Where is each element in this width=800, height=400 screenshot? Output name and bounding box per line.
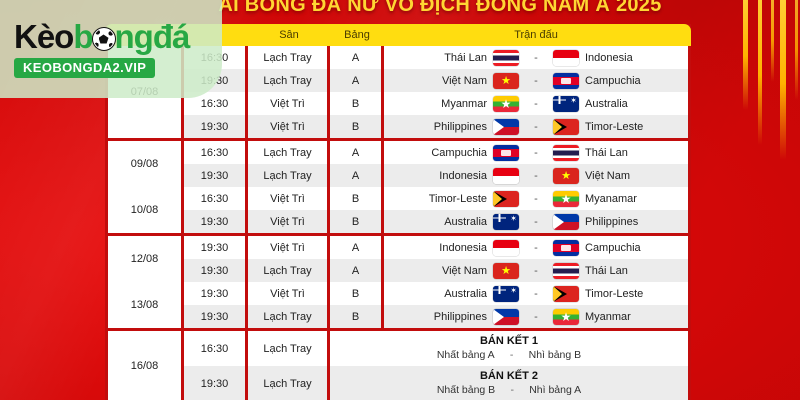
semifinal-title: BÁN KẾT 1 — [330, 335, 688, 349]
date-label: 09/08 — [131, 158, 159, 170]
match-cell: Australia-Timor-Leste — [384, 282, 688, 305]
matchup: Việt Nam-Thái Lan — [384, 263, 688, 279]
group-cell: A — [330, 259, 384, 282]
venue-cell: Lạch Tray — [248, 164, 330, 187]
table-body: 07/0816:30Lạch TrayAThái Lan-Indonesia19… — [108, 46, 688, 400]
group-cell: A — [330, 164, 384, 187]
venue-cell: Lạch Tray — [248, 331, 330, 366]
home-team-flag-icon — [493, 309, 519, 325]
logo-text-keo: Kèo — [14, 18, 73, 55]
group-rows: 16:30Lạch TrayACampuchia-Thái Lan19:30Lạ… — [184, 141, 688, 233]
header-group: Bảng — [330, 29, 384, 41]
logo-text-ngda: ngđá — [115, 18, 190, 55]
date-cell: 09/0810/08 — [108, 141, 184, 233]
time-cell: 19:30 — [184, 236, 248, 259]
home-team-flag-icon — [493, 145, 519, 161]
matchup: Myanmar-Australia — [384, 96, 688, 112]
semifinal-left: Nhất bảng B — [437, 384, 495, 396]
versus-dash: - — [525, 121, 547, 133]
away-team-flag-icon — [553, 286, 579, 302]
versus-dash: - — [525, 75, 547, 87]
away-team-name: Indonesia — [585, 52, 673, 64]
group-rows: 16:30Lạch TrayAThái Lan-Indonesia19:30Lạ… — [184, 46, 688, 138]
versus-dash: - — [525, 98, 547, 110]
match-cell: Timor-Leste-Myanamar — [384, 187, 688, 210]
home-team-name: Timor-Leste — [399, 193, 487, 205]
home-team-flag-icon — [493, 191, 519, 207]
group-cell: B — [330, 92, 384, 115]
time-cell: 16:30 — [184, 141, 248, 164]
semifinal-left: Nhất bảng A — [437, 349, 495, 361]
away-team-name: Việt Nam — [585, 170, 673, 182]
date-label: 16/08 — [131, 360, 159, 372]
away-team-name: Philippines — [585, 216, 673, 228]
home-team-name: Australia — [399, 288, 487, 300]
schedule-graphic: ẢI BÓNG ĐÁ NỮ VÔ ĐỊCH ĐÔNG NAM Á 2025 Sâ… — [0, 0, 800, 400]
home-team-name: Myanmar — [399, 98, 487, 110]
soccer-ball-icon — [92, 27, 116, 51]
time-cell: 19:30 — [184, 259, 248, 282]
versus-dash: - — [495, 384, 529, 397]
match-cell: Việt Nam-Thái Lan — [384, 259, 688, 282]
matchup: Indonesia-Campuchia — [384, 240, 688, 256]
venue-cell: Lạch Tray — [248, 366, 330, 400]
away-team-flag-icon — [553, 50, 579, 66]
versus-dash: - — [525, 265, 547, 277]
logo-domain-badge: KEOBONGDA2.VIP — [14, 58, 155, 78]
logo-wordmark: Kèobngđá — [14, 20, 189, 53]
time-cell: 16:30 — [184, 187, 248, 210]
group-cell: B — [330, 305, 384, 328]
versus-dash: - — [525, 242, 547, 254]
home-team-flag-icon — [493, 50, 519, 66]
venue-cell: Lạch Tray — [248, 305, 330, 328]
away-team-name: Timor-Leste — [585, 121, 673, 133]
table-row[interactable]: 19:30Việt TrìAIndonesia-Campuchia — [184, 236, 688, 259]
table-row[interactable]: 19:30Việt TrìBAustralia-Timor-Leste — [184, 282, 688, 305]
venue-cell: Việt Trì — [248, 282, 330, 305]
versus-dash: - — [525, 52, 547, 64]
time-cell: 19:30 — [184, 366, 248, 400]
versus-dash: - — [495, 349, 529, 362]
away-team-name: Campuchia — [585, 75, 673, 87]
home-team-name: Philippines — [399, 311, 487, 323]
away-team-flag-icon — [553, 191, 579, 207]
away-team-flag-icon — [553, 168, 579, 184]
matchup: Timor-Leste-Myanamar — [384, 191, 688, 207]
home-team-flag-icon — [493, 168, 519, 184]
semifinal-block: BÁN KẾT 1Nhất bảng A-Nhì bảng B — [330, 335, 688, 362]
group-cell: B — [330, 282, 384, 305]
matchup: Australia-Timor-Leste — [384, 286, 688, 302]
group-cell: A — [330, 236, 384, 259]
matchup: Campuchia-Thái Lan — [384, 145, 688, 161]
away-team-flag-icon — [553, 214, 579, 230]
home-team-flag-icon — [493, 214, 519, 230]
venue-cell: Việt Trì — [248, 115, 330, 138]
match-cell: Philippines-Myanmar — [384, 305, 688, 328]
home-team-name: Campuchia — [399, 147, 487, 159]
time-cell: 19:30 — [184, 282, 248, 305]
home-team-name: Indonesia — [399, 242, 487, 254]
logo-panel: Kèobngđá KEOBONGDA2.VIP — [0, 0, 222, 98]
away-team-flag-icon — [553, 73, 579, 89]
away-team-name: Timor-Leste — [585, 288, 673, 300]
semifinal-matchup: Nhất bảng A-Nhì bảng B — [330, 349, 688, 362]
home-team-name: Thái Lan — [399, 52, 487, 64]
venue-cell: Việt Trì — [248, 187, 330, 210]
match-cell: Philippines-Timor-Leste — [384, 115, 688, 138]
home-team-flag-icon — [493, 263, 519, 279]
home-team-flag-icon — [493, 286, 519, 302]
gold-ray-decoration — [680, 0, 800, 170]
table-row[interactable]: 16:30Lạch TrayAThái Lan-Indonesia — [184, 46, 688, 69]
group-rows: 19:30Việt TrìAIndonesia-Campuchia19:30Lạ… — [184, 236, 688, 328]
home-team-name: Australia — [399, 216, 487, 228]
matchup: Thái Lan-Indonesia — [384, 50, 688, 66]
time-cell: 19:30 — [184, 210, 248, 233]
table-row[interactable]: 16:30Lạch TrayBÁN KẾT 1Nhất bảng A-Nhì b… — [184, 331, 688, 366]
matchup: Philippines-Timor-Leste — [384, 119, 688, 135]
semifinal-right: Nhì bảng A — [529, 384, 581, 396]
away-team-flag-icon — [553, 119, 579, 135]
table-row[interactable]: 19:30Lạch TrayAIndonesia-Việt Nam — [184, 164, 688, 187]
venue-cell: Lạch Tray — [248, 46, 330, 69]
away-team-name: Thái Lan — [585, 265, 673, 277]
matchup: Indonesia-Việt Nam — [384, 168, 688, 184]
time-cell: 16:30 — [184, 331, 248, 366]
home-team-name: Việt Nam — [399, 265, 487, 277]
schedule-date-group: 09/0810/0816:30Lạch TrayACampuchia-Thái … — [108, 141, 688, 236]
versus-dash: - — [525, 147, 547, 159]
away-team-flag-icon — [553, 145, 579, 161]
semifinal-cell: BÁN KẾT 2Nhất bảng B-Nhì bảng A — [330, 366, 688, 400]
away-team-flag-icon — [553, 240, 579, 256]
date-cell: 12/0813/08 — [108, 236, 184, 328]
group-cell: B — [330, 210, 384, 233]
group-cell: B — [330, 187, 384, 210]
match-cell: Việt Nam-Campuchia — [384, 69, 688, 92]
away-team-name: Australia — [585, 98, 673, 110]
table-row[interactable]: 19:30Lạch TrayAViệt Nam-Thái Lan — [184, 259, 688, 282]
versus-dash: - — [525, 311, 547, 323]
away-team-name: Thái Lan — [585, 147, 673, 159]
venue-cell: Lạch Tray — [248, 259, 330, 282]
date-cell: 16/08 — [108, 331, 184, 400]
table-row[interactable]: 19:30Lạch TrayBPhilippines-Myanmar — [184, 305, 688, 328]
versus-dash: - — [525, 216, 547, 228]
match-cell: Myanmar-Australia — [384, 92, 688, 115]
group-cell: A — [330, 46, 384, 69]
group-cell: B — [330, 115, 384, 138]
schedule-date-group: 16/0816:30Lạch TrayBÁN KẾT 1Nhất bảng A-… — [108, 331, 688, 400]
table-row[interactable]: 16:30Việt TrìBMyanmar-Australia — [184, 92, 688, 115]
group-cell: A — [330, 69, 384, 92]
table-row[interactable]: 16:30Lạch TrayACampuchia-Thái Lan — [184, 141, 688, 164]
away-team-name: Myanamar — [585, 193, 673, 205]
venue-cell: Lạch Tray — [248, 69, 330, 92]
semifinal-matchup: Nhất bảng B-Nhì bảng A — [330, 384, 688, 397]
home-team-name: Philippines — [399, 121, 487, 133]
date-label: 10/08 — [131, 204, 159, 216]
time-cell: 19:30 — [184, 305, 248, 328]
away-team-flag-icon — [553, 309, 579, 325]
away-team-flag-icon — [553, 96, 579, 112]
table-row[interactable]: 19:30Lạch TrayAViệt Nam-Campuchia — [184, 69, 688, 92]
match-cell: Campuchia-Thái Lan — [384, 141, 688, 164]
away-team-name: Myanmar — [585, 311, 673, 323]
match-cell: Thái Lan-Indonesia — [384, 46, 688, 69]
date-label: 13/08 — [131, 299, 159, 311]
date-label: 12/08 — [131, 253, 159, 265]
table-row[interactable]: 19:30Việt TrìBAustralia-Philippines — [184, 210, 688, 233]
home-team-name: Việt Nam — [399, 75, 487, 87]
time-cell: 19:30 — [184, 164, 248, 187]
group-rows: 16:30Lạch TrayBÁN KẾT 1Nhất bảng A-Nhì b… — [184, 331, 688, 400]
time-cell: 19:30 — [184, 115, 248, 138]
matchup: Việt Nam-Campuchia — [384, 73, 688, 89]
matchup: Philippines-Myanmar — [384, 309, 688, 325]
header-match: Trận đấu — [384, 29, 688, 41]
group-cell: A — [330, 141, 384, 164]
match-cell: Indonesia-Campuchia — [384, 236, 688, 259]
versus-dash: - — [525, 193, 547, 205]
away-team-flag-icon — [553, 263, 579, 279]
semifinal-right: Nhì bảng B — [529, 349, 582, 361]
home-team-flag-icon — [493, 96, 519, 112]
match-cell: Indonesia-Việt Nam — [384, 164, 688, 187]
versus-dash: - — [525, 288, 547, 300]
home-team-flag-icon — [493, 73, 519, 89]
schedule-date-group: 12/0813/0819:30Việt TrìAIndonesia-Campuc… — [108, 236, 688, 331]
table-row[interactable]: 16:30Việt TrìBTimor-Leste-Myanamar — [184, 187, 688, 210]
matchup: Australia-Philippines — [384, 214, 688, 230]
header-venue: Sân — [248, 29, 330, 41]
venue-cell: Việt Trì — [248, 236, 330, 259]
venue-cell: Việt Trì — [248, 92, 330, 115]
table-row[interactable]: 19:30Lạch TrayBÁN KẾT 2Nhất bảng B-Nhì b… — [184, 366, 688, 400]
home-team-name: Indonesia — [399, 170, 487, 182]
versus-dash: - — [525, 170, 547, 182]
away-team-name: Campuchia — [585, 242, 673, 254]
table-row[interactable]: 19:30Việt TrìBPhilippines-Timor-Leste — [184, 115, 688, 138]
match-cell: Australia-Philippines — [384, 210, 688, 233]
home-team-flag-icon — [493, 119, 519, 135]
site-logo[interactable]: Kèobngđá KEOBONGDA2.VIP — [14, 20, 189, 78]
home-team-flag-icon — [493, 240, 519, 256]
semifinal-block: BÁN KẾT 2Nhất bảng B-Nhì bảng A — [330, 370, 688, 397]
venue-cell: Lạch Tray — [248, 141, 330, 164]
semifinal-title: BÁN KẾT 2 — [330, 370, 688, 384]
semifinal-cell: BÁN KẾT 1Nhất bảng A-Nhì bảng B — [330, 331, 688, 366]
venue-cell: Việt Trì — [248, 210, 330, 233]
logo-text-b: b — [73, 18, 92, 55]
